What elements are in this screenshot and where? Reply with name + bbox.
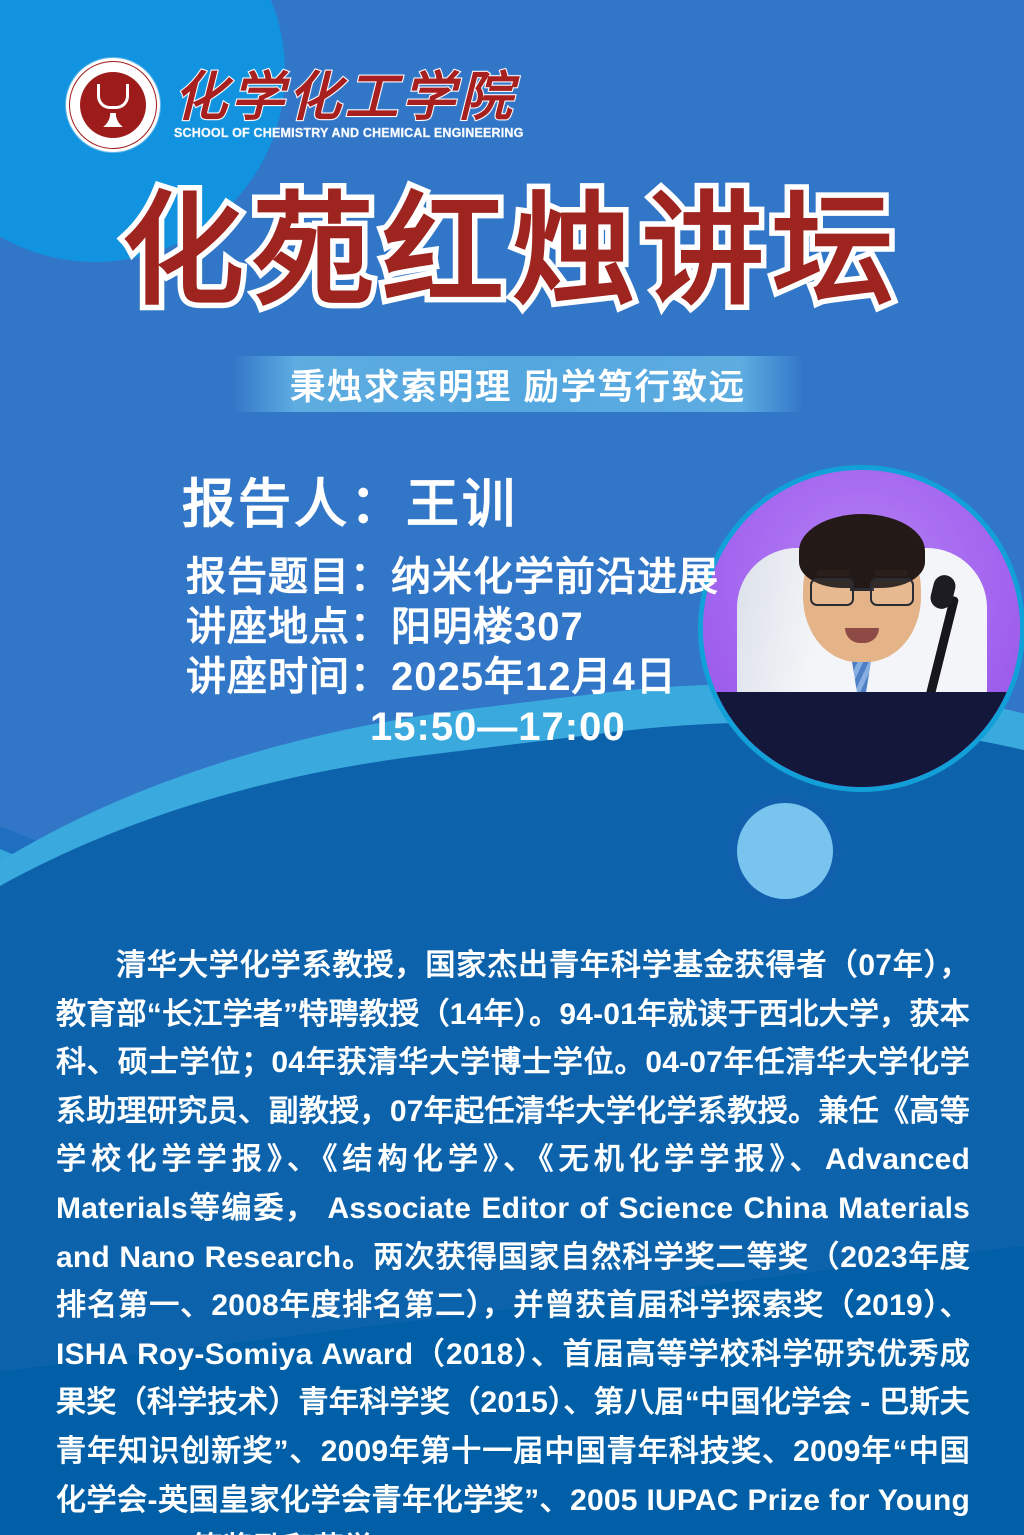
subtitle-banner: 秉烛求索明理 励学笃行致远 (232, 356, 804, 412)
logo-text-block: 化学化工学院 SCHOOL OF CHEMISTRY AND CHEMICAL … (174, 70, 524, 139)
photo-podium (703, 692, 1020, 787)
emblem-inner-disc (80, 72, 146, 138)
photo-lens-left (810, 578, 854, 606)
school-logo: 化学化工学院 SCHOOL OF CHEMISTRY AND CHEMICAL … (66, 58, 524, 152)
lecture-venue-line: 讲座地点：阳明楼307 (0, 602, 700, 652)
poster-main-title: 化苑红烛讲坛 (0, 190, 1024, 312)
lecture-topic-line: 报告题目：纳米化学前沿进展 (0, 552, 700, 602)
lecture-date-line: 讲座时间：2025年12月4日 (0, 652, 700, 702)
photo-eyebrow-left (816, 570, 850, 576)
speaker-bio: 清华大学化学系教授，国家杰出青年科学基金获得者（07年），教育部“长江学者”特聘… (56, 942, 970, 1535)
logo-english-name: SCHOOL OF CHEMISTRY AND CHEMICAL ENGINEE… (174, 126, 524, 140)
speaker-photo (703, 470, 1020, 787)
speaker-name-line: 报告人：王训 (0, 462, 700, 538)
lecture-poster: 化学化工学院 SCHOOL OF CHEMISTRY AND CHEMICAL … (0, 0, 1024, 1535)
photo-lens-right (870, 578, 914, 606)
lecture-time-line: 15:50—17:00 (0, 702, 700, 752)
logo-chinese-name: 化学化工学院 (174, 70, 524, 124)
photo-glasses (810, 578, 914, 604)
lecture-info-block: 报告人：王训 报告题目：纳米化学前沿进展 讲座地点：阳明楼307 讲座时间：20… (0, 462, 700, 752)
decorative-circle (737, 803, 833, 899)
photo-eyebrow-right (874, 570, 908, 576)
school-emblem-icon (66, 58, 160, 152)
subtitle-text: 秉烛求索明理 励学笃行致远 (290, 359, 746, 410)
photo-hair (799, 514, 925, 588)
